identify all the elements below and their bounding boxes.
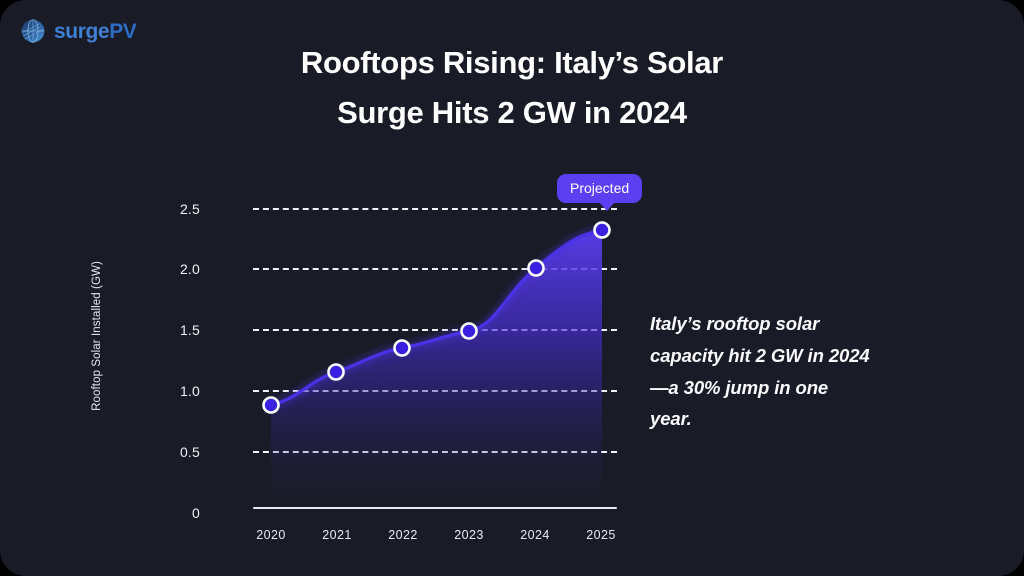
gridline-1-0: [253, 390, 617, 392]
area-fill: [271, 230, 602, 507]
y-axis-title: Rooftop Solar Installed (GW): [91, 226, 103, 446]
projected-badge[interactable]: Projected: [557, 174, 642, 203]
y-tick-label-2-5: 2.5: [140, 201, 200, 217]
caption-text: Italy’s rooftop solar capacity hit 2 GW …: [650, 308, 872, 435]
data-point-2020[interactable]: [264, 398, 279, 413]
gridline-0-5: [253, 451, 617, 453]
gridline-1-5: [253, 329, 617, 331]
data-point-2023[interactable]: [462, 324, 477, 339]
data-point-2025[interactable]: [595, 223, 610, 238]
plot-surface: [0, 0, 1024, 576]
y-tick-label-0-5: 0.5: [140, 444, 200, 460]
y-tick-label-0: 0: [140, 505, 200, 521]
y-tick-label-2-0: 2.0: [140, 261, 200, 277]
x-tick-label-2021: 2021: [302, 528, 372, 542]
trend-line: [271, 230, 602, 405]
gridline-2-5: [253, 208, 617, 210]
data-point-2022[interactable]: [395, 341, 410, 356]
x-tick-label-2024: 2024: [500, 528, 570, 542]
data-point-2021[interactable]: [329, 365, 344, 380]
x-tick-label-2020: 2020: [236, 528, 306, 542]
y-tick-label-1-5: 1.5: [140, 322, 200, 338]
line-chart: Rooftop Solar Installed (GW) 2.5 2.0 1.5…: [0, 0, 1024, 576]
x-tick-label-2025: 2025: [566, 528, 636, 542]
x-tick-label-2022: 2022: [368, 528, 438, 542]
infographic-slide: surgePV Rooftops Rising: Italy’s Solar S…: [0, 0, 1024, 576]
gridline-2-0: [253, 268, 617, 270]
y-tick-label-1-0: 1.0: [140, 383, 200, 399]
x-axis-line: [253, 507, 617, 509]
x-tick-label-2023: 2023: [434, 528, 504, 542]
